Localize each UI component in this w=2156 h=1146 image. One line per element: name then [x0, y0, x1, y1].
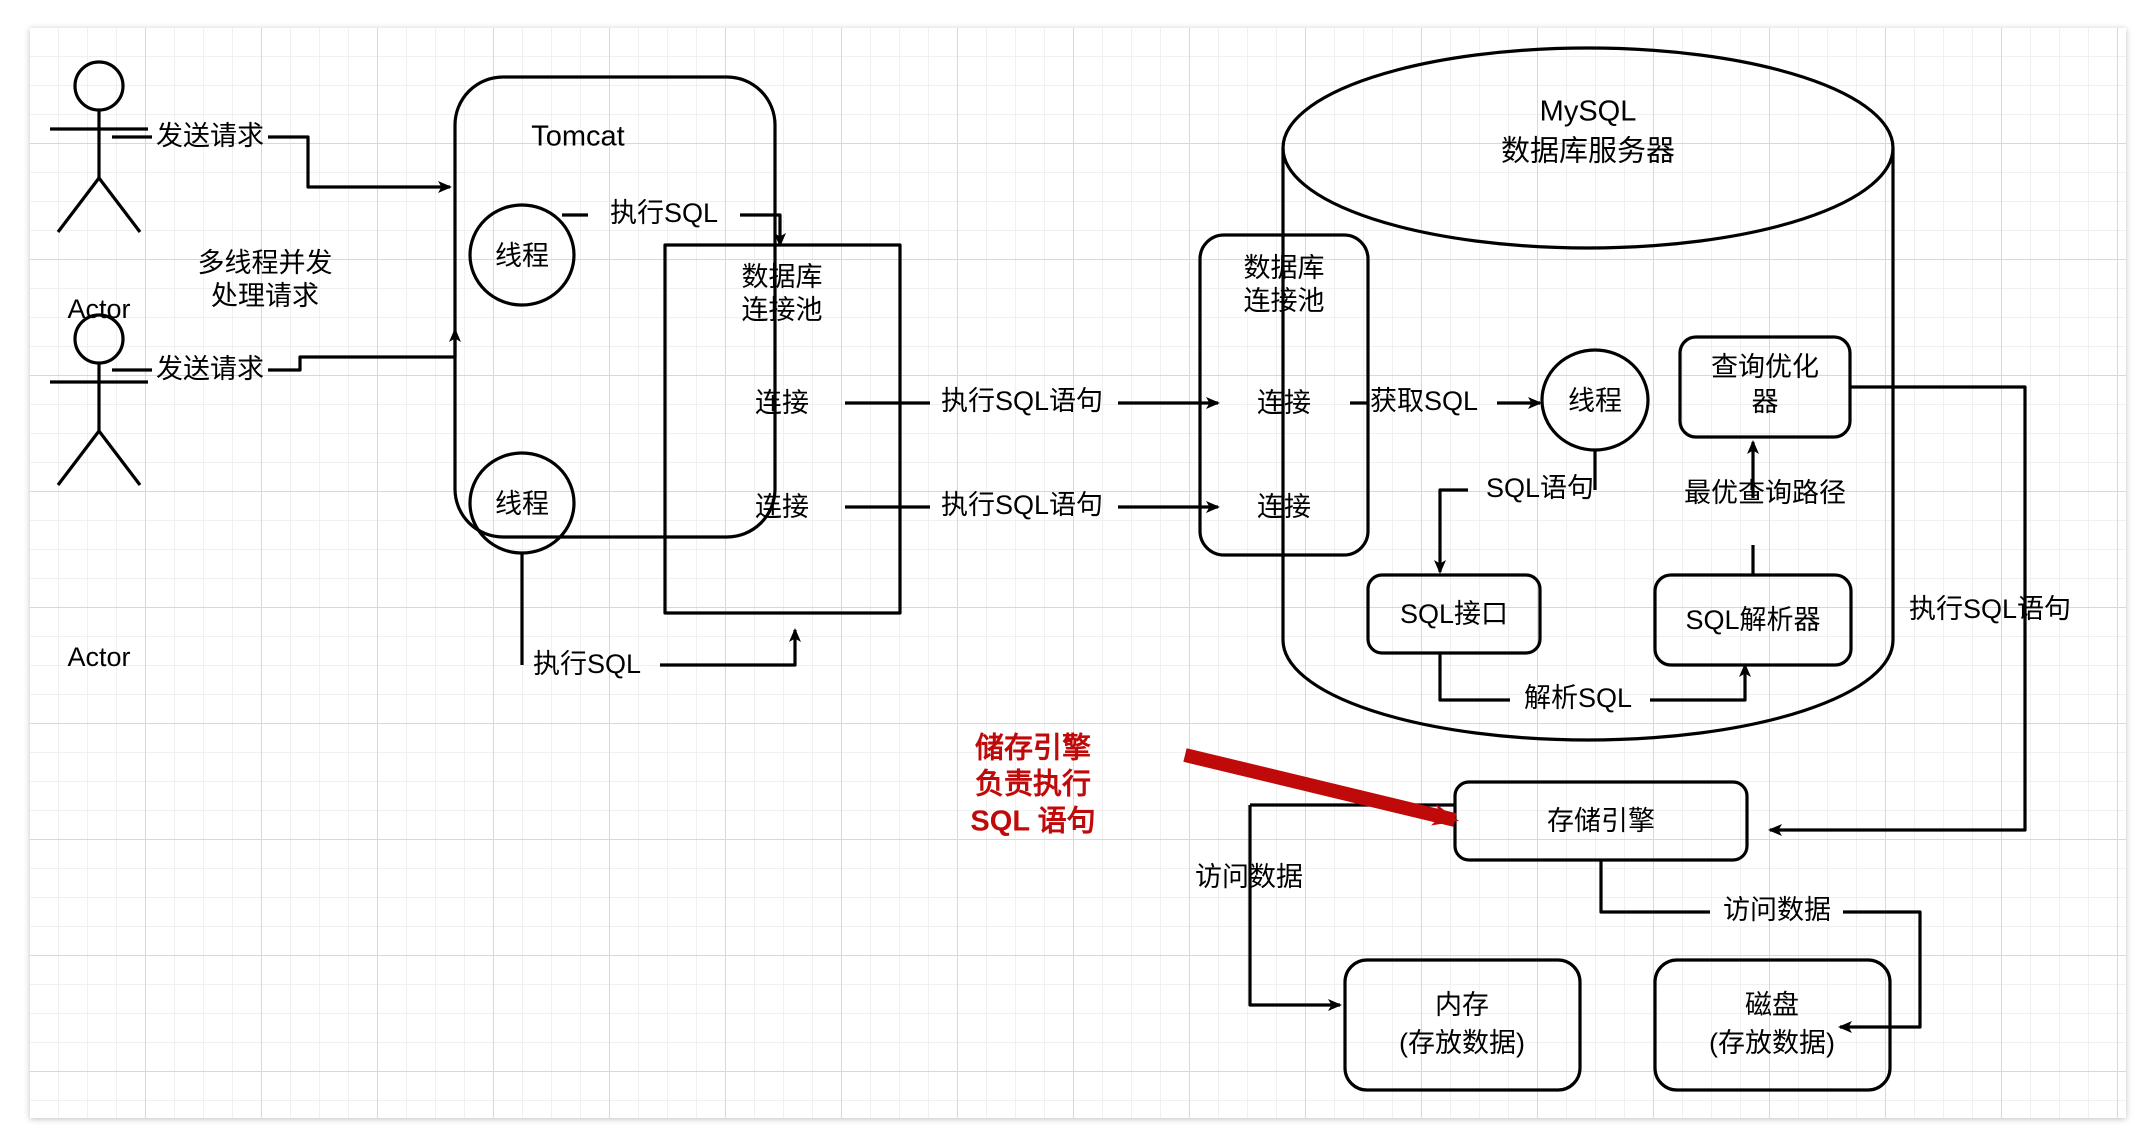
tomcat-pool-title-line-2: 连接池	[742, 294, 823, 326]
actor-1-request-label: 发送请求	[156, 121, 264, 153]
actor-1-figure	[50, 62, 148, 232]
storage-engine-note-line-1: 储存引擎	[970, 731, 1095, 767]
tomcat-pool-connection-2: 连接	[755, 491, 809, 523]
diagram-shapes	[0, 0, 2156, 1146]
disk-box	[1655, 960, 1890, 1090]
parse-sql-label: 解析SQL	[1524, 683, 1632, 715]
mysql-title-line-2: 数据库服务器	[1501, 135, 1675, 170]
actor-1-label: Actor	[67, 294, 130, 326]
tomcat-exec-sql-top-label: 执行SQL	[610, 198, 718, 230]
exec-sql-stmt-1-label: 执行SQL语句	[941, 386, 1103, 418]
mysql-pool-title-line-2: 连接池	[1244, 285, 1325, 317]
storage-engine-note-line-3: SQL 语句	[970, 803, 1095, 839]
disk-label-line-2: (存放数据)	[1709, 1027, 1835, 1059]
exec-sql-stmt-2-label: 执行SQL语句	[941, 490, 1103, 522]
mysql-title-line-1: MySQL	[1540, 95, 1637, 130]
exec-sql-stmt-right-label: 执行SQL语句	[1909, 594, 2071, 626]
multithread-note-line-2: 处理请求	[211, 281, 319, 313]
sql-statement-label: SQL语句	[1486, 473, 1594, 505]
storage-engine-note-line-2: 负责执行	[970, 767, 1095, 803]
disk-label-line-1: 磁盘	[1745, 989, 1799, 1021]
tomcat-title: Tomcat	[531, 120, 624, 155]
actor-2-request-label: 发送请求	[156, 354, 264, 386]
access-data-left-label: 访问数据	[1195, 862, 1303, 894]
fetch-sql-label: 获取SQL	[1370, 386, 1478, 418]
access-data-right-label: 访问数据	[1723, 895, 1831, 927]
tomcat-pool-connection-1: 连接	[755, 387, 809, 419]
memory-box	[1345, 960, 1580, 1090]
storage-engine-annotation-arrow	[1185, 755, 1455, 820]
sql-statement-connector	[1440, 450, 1595, 572]
tomcat-pool-title-line-1: 数据库	[742, 261, 823, 293]
mysql-pool-connection-2: 连接	[1257, 491, 1311, 523]
query-optimizer-label-line-1: 查询优化	[1711, 351, 1819, 383]
mysql-thread-label: 线程	[1568, 385, 1622, 417]
sql-parser-label: SQL解析器	[1685, 604, 1820, 636]
tomcat-thread-2-label: 线程	[495, 488, 549, 520]
mysql-pool-connection-1: 连接	[1257, 387, 1311, 419]
sql-interface-label: SQL接口	[1400, 598, 1508, 630]
mysql-pool-title-line-1: 数据库	[1244, 252, 1325, 284]
query-optimizer-label-line-2: 器	[1752, 386, 1779, 418]
diagram-canvas: Actor Actor 发送请求 发送请求 多线程并发 处理请求 Tomcat …	[0, 0, 2156, 1146]
actor-2-label: Actor	[67, 642, 130, 674]
best-query-path-label: 最优查询路径	[1684, 478, 1846, 510]
tomcat-thread-1-label: 线程	[495, 240, 549, 272]
tomcat-exec-sql-bottom-label: 执行SQL	[533, 649, 641, 681]
storage-engine-label: 存储引擎	[1547, 805, 1655, 837]
storage-engine-note: 储存引擎 负责执行 SQL 语句	[970, 731, 1095, 840]
multithread-note-line-1: 多线程并发	[198, 248, 333, 280]
access-data-left-connector	[1250, 805, 1455, 1005]
memory-label-line-1: 内存	[1435, 989, 1489, 1021]
actor-2-figure	[50, 315, 148, 485]
memory-label-line-2: (存放数据)	[1399, 1027, 1525, 1059]
